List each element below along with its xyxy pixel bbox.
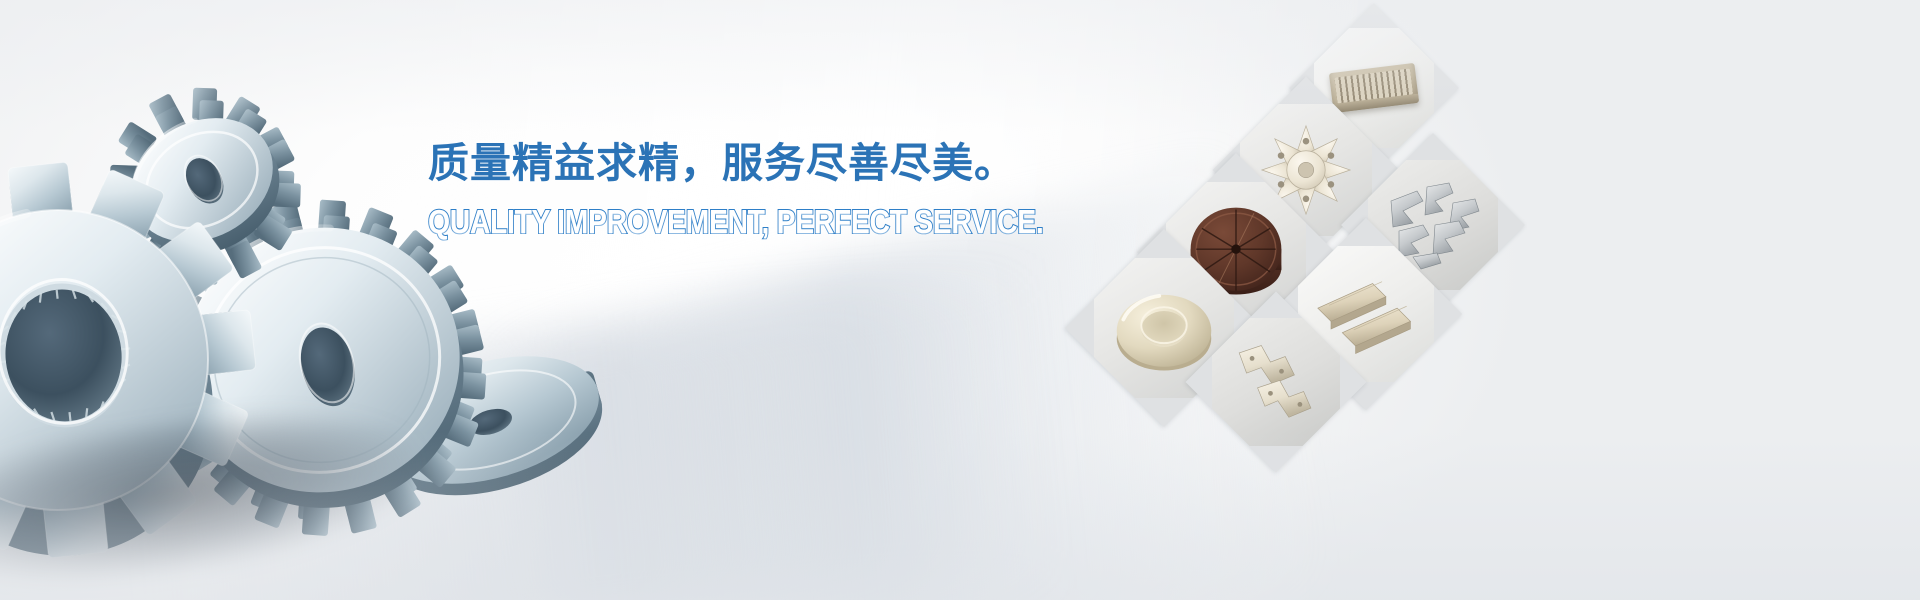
part-tan-wedge-bars <box>1314 276 1418 352</box>
banner-copy: 质量精益求精，服务尽善尽美。 QUALITY IMPROVEMENT, PERF… <box>428 138 1068 241</box>
metallic-gears-illustration <box>0 30 570 590</box>
page-title: 质量精益求精，服务尽善尽美。 <box>428 138 1068 188</box>
product-photo-diamond-collage <box>1108 0 1578 500</box>
hero-banner: 质量精益求精，服务尽善尽美。 QUALITY IMPROVEMENT, PERF… <box>0 0 1920 600</box>
part-slotted-grate-block <box>1329 63 1419 113</box>
part-white-angle-brackets <box>1230 340 1322 424</box>
page-subtitle: QUALITY IMPROVEMENT, PERFECT SERVICE. <box>428 204 978 241</box>
part-cream-torus-ring <box>1112 276 1216 380</box>
